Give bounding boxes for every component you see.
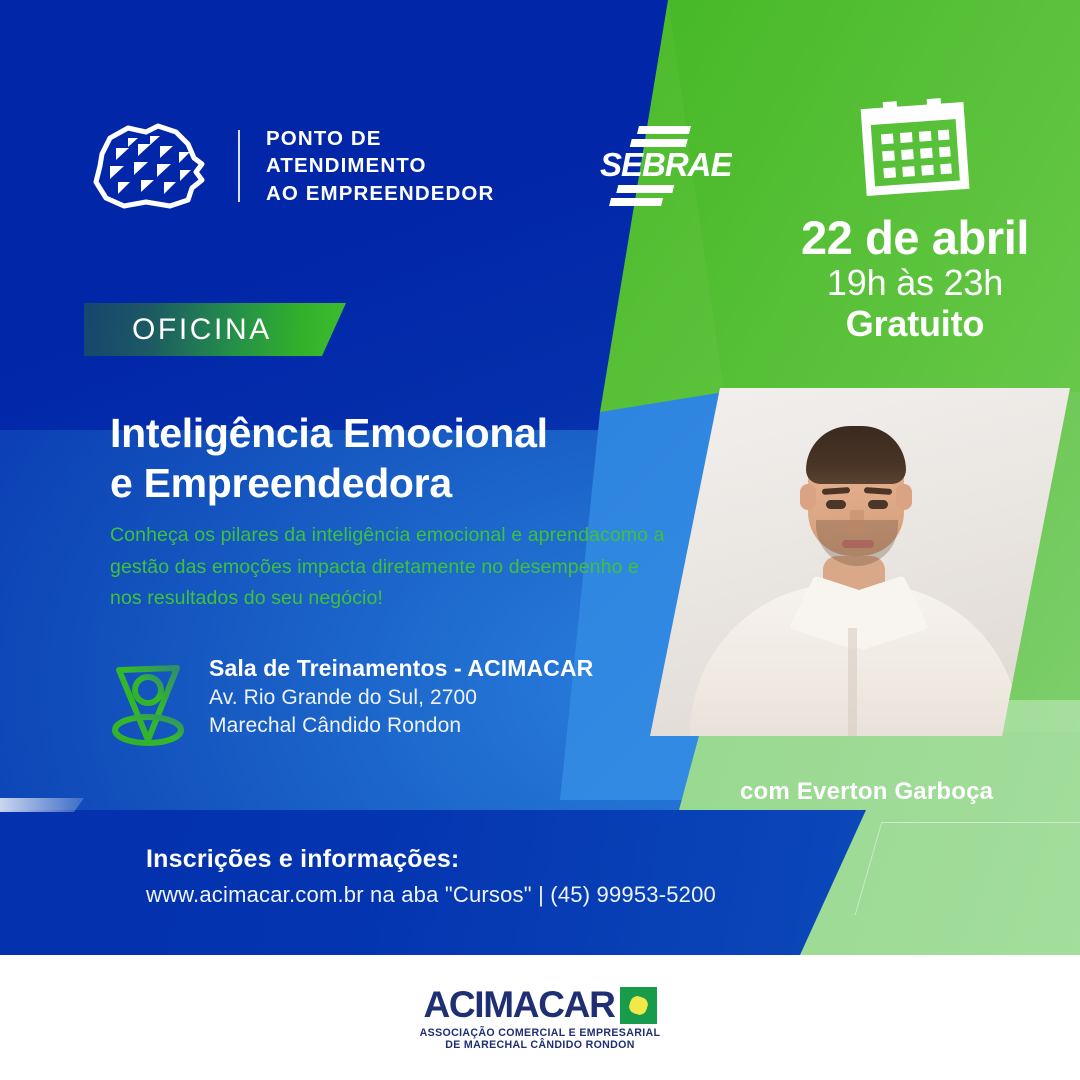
acimacar-logo: ACIMACAR ASSOCIAÇÃO COMERCIAL E EMPRESAR… [420,984,661,1051]
decorative-outline-shape [855,822,1080,915]
calendar-icon [856,96,974,200]
date-block: 22 de abril 19h às 23h Gratuito [760,96,1070,344]
acimacar-brand: ACIMACAR [423,984,614,1026]
photo-ear-right [896,484,912,510]
location-address: Av. Rio Grande do Sul, 2700 [209,684,593,712]
page-title: Inteligência Emocional e Empreendedora [110,408,670,509]
location-city: Marechal Cândido Rondon [209,712,593,740]
header-logos: PONTO DE ATENDIMENTO AO EMPREENDEDOR SEB… [84,118,732,214]
svg-text:SEBRAE: SEBRAE [600,146,732,183]
speaker-photo [650,388,1070,736]
contact-bar-accent [0,798,84,812]
title-line2: e Empreendedora [110,458,670,508]
location-text: Sala de Treinamentos - ACIMACAR Av. Rio … [209,648,593,740]
event-date: 22 de abril [760,214,1070,262]
acimacar-pinwheel-icon [620,987,657,1024]
photo-nose [850,510,864,536]
location-venue: Sala de Treinamentos - ACIMACAR [209,654,593,684]
header-divider [238,130,240,202]
partner-name-line2: ATENDIMENTO [266,152,494,179]
photo-shirt-placket [848,628,857,736]
parana-map-icon [84,118,212,214]
category-badge-label: OFICINA [132,313,272,347]
photo-ear-left [800,484,816,510]
contact-heading: Inscrições e informações: [146,845,459,874]
location-block: Sala de Treinamentos - ACIMACAR Av. Rio … [105,648,593,750]
acimacar-tagline-line2: DE MARECHAL CÂNDIDO RONDON [445,1039,635,1051]
photo-eye-left [826,500,846,509]
photo-eye-right [868,500,888,509]
event-description: Conheça os pilares da inteligência emoci… [110,520,670,615]
event-time: 19h às 23h [760,262,1070,304]
contact-details: www.acimacar.com.br na aba "Cursos" | (4… [146,882,716,908]
footer: ACIMACAR ASSOCIAÇÃO COMERCIAL E EMPRESAR… [0,955,1080,1080]
sebrae-logo: SEBRAE [596,122,732,210]
partner-name-line3: AO EMPREENDEDOR [266,180,494,207]
location-pin-icon [105,654,191,750]
event-flyer: PONTO DE ATENDIMENTO AO EMPREENDEDOR SEB… [0,0,1080,1080]
acimacar-logo-top: ACIMACAR [423,984,656,1026]
category-badge: OFICINA [84,303,346,356]
partner-name-line1: PONTO DE [266,125,494,152]
event-price: Gratuito [760,304,1070,344]
title-line1: Inteligência Emocional [110,408,670,458]
speaker-caption: com Everton Garboça [740,778,993,806]
partner-name: PONTO DE ATENDIMENTO AO EMPREENDEDOR [266,125,494,207]
acimacar-tagline-line1: ASSOCIAÇÃO COMERCIAL E EMPRESARIAL [420,1027,661,1039]
photo-mouth [842,540,874,548]
